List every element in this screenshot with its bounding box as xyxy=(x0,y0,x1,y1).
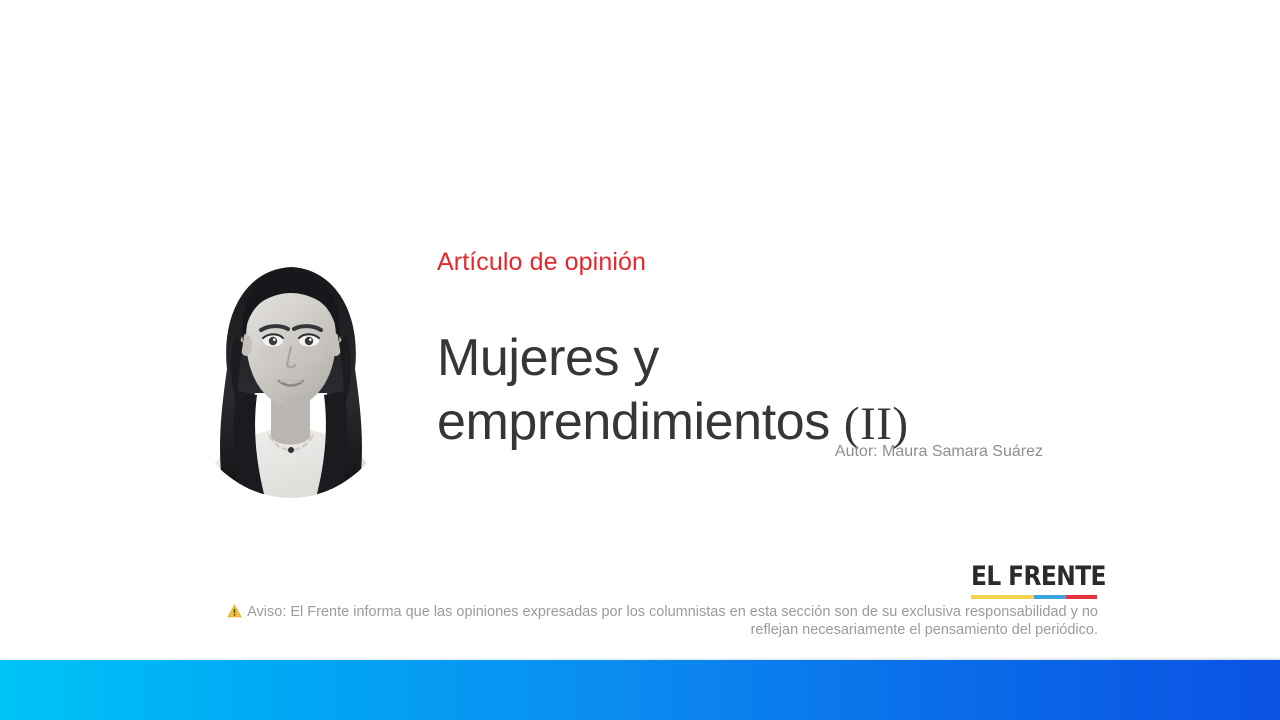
disclaimer: Aviso: El Frente informa que las opinion… xyxy=(190,603,1098,639)
colombia-flag-stripe xyxy=(971,595,1097,599)
author-portrait xyxy=(181,251,400,498)
disclaimer-text: Aviso: El Frente informa que las opinion… xyxy=(247,604,1098,638)
flag-stripe-blue xyxy=(1034,595,1066,599)
article-kicker: Artículo de opinión xyxy=(437,247,646,277)
logo-wordmark: EL FRENTE xyxy=(971,563,1092,591)
article-author: Autor: Maura Samara Suárez xyxy=(537,442,1043,462)
flag-stripe-yellow xyxy=(971,595,1034,599)
el-frente-logo: EL FRENTE xyxy=(971,563,1097,599)
headline-line-1: Mujeres y xyxy=(437,329,659,387)
flag-stripe-red xyxy=(1066,595,1098,599)
portrait-image xyxy=(181,251,400,498)
warning-triangle-icon xyxy=(227,604,242,618)
opinion-article-card: Artículo de opinión Mujeres y emprendimi… xyxy=(0,0,1280,720)
page-title: Mujeres y emprendimientos (II) xyxy=(437,326,1097,456)
footer-gradient-bar xyxy=(0,660,1280,720)
